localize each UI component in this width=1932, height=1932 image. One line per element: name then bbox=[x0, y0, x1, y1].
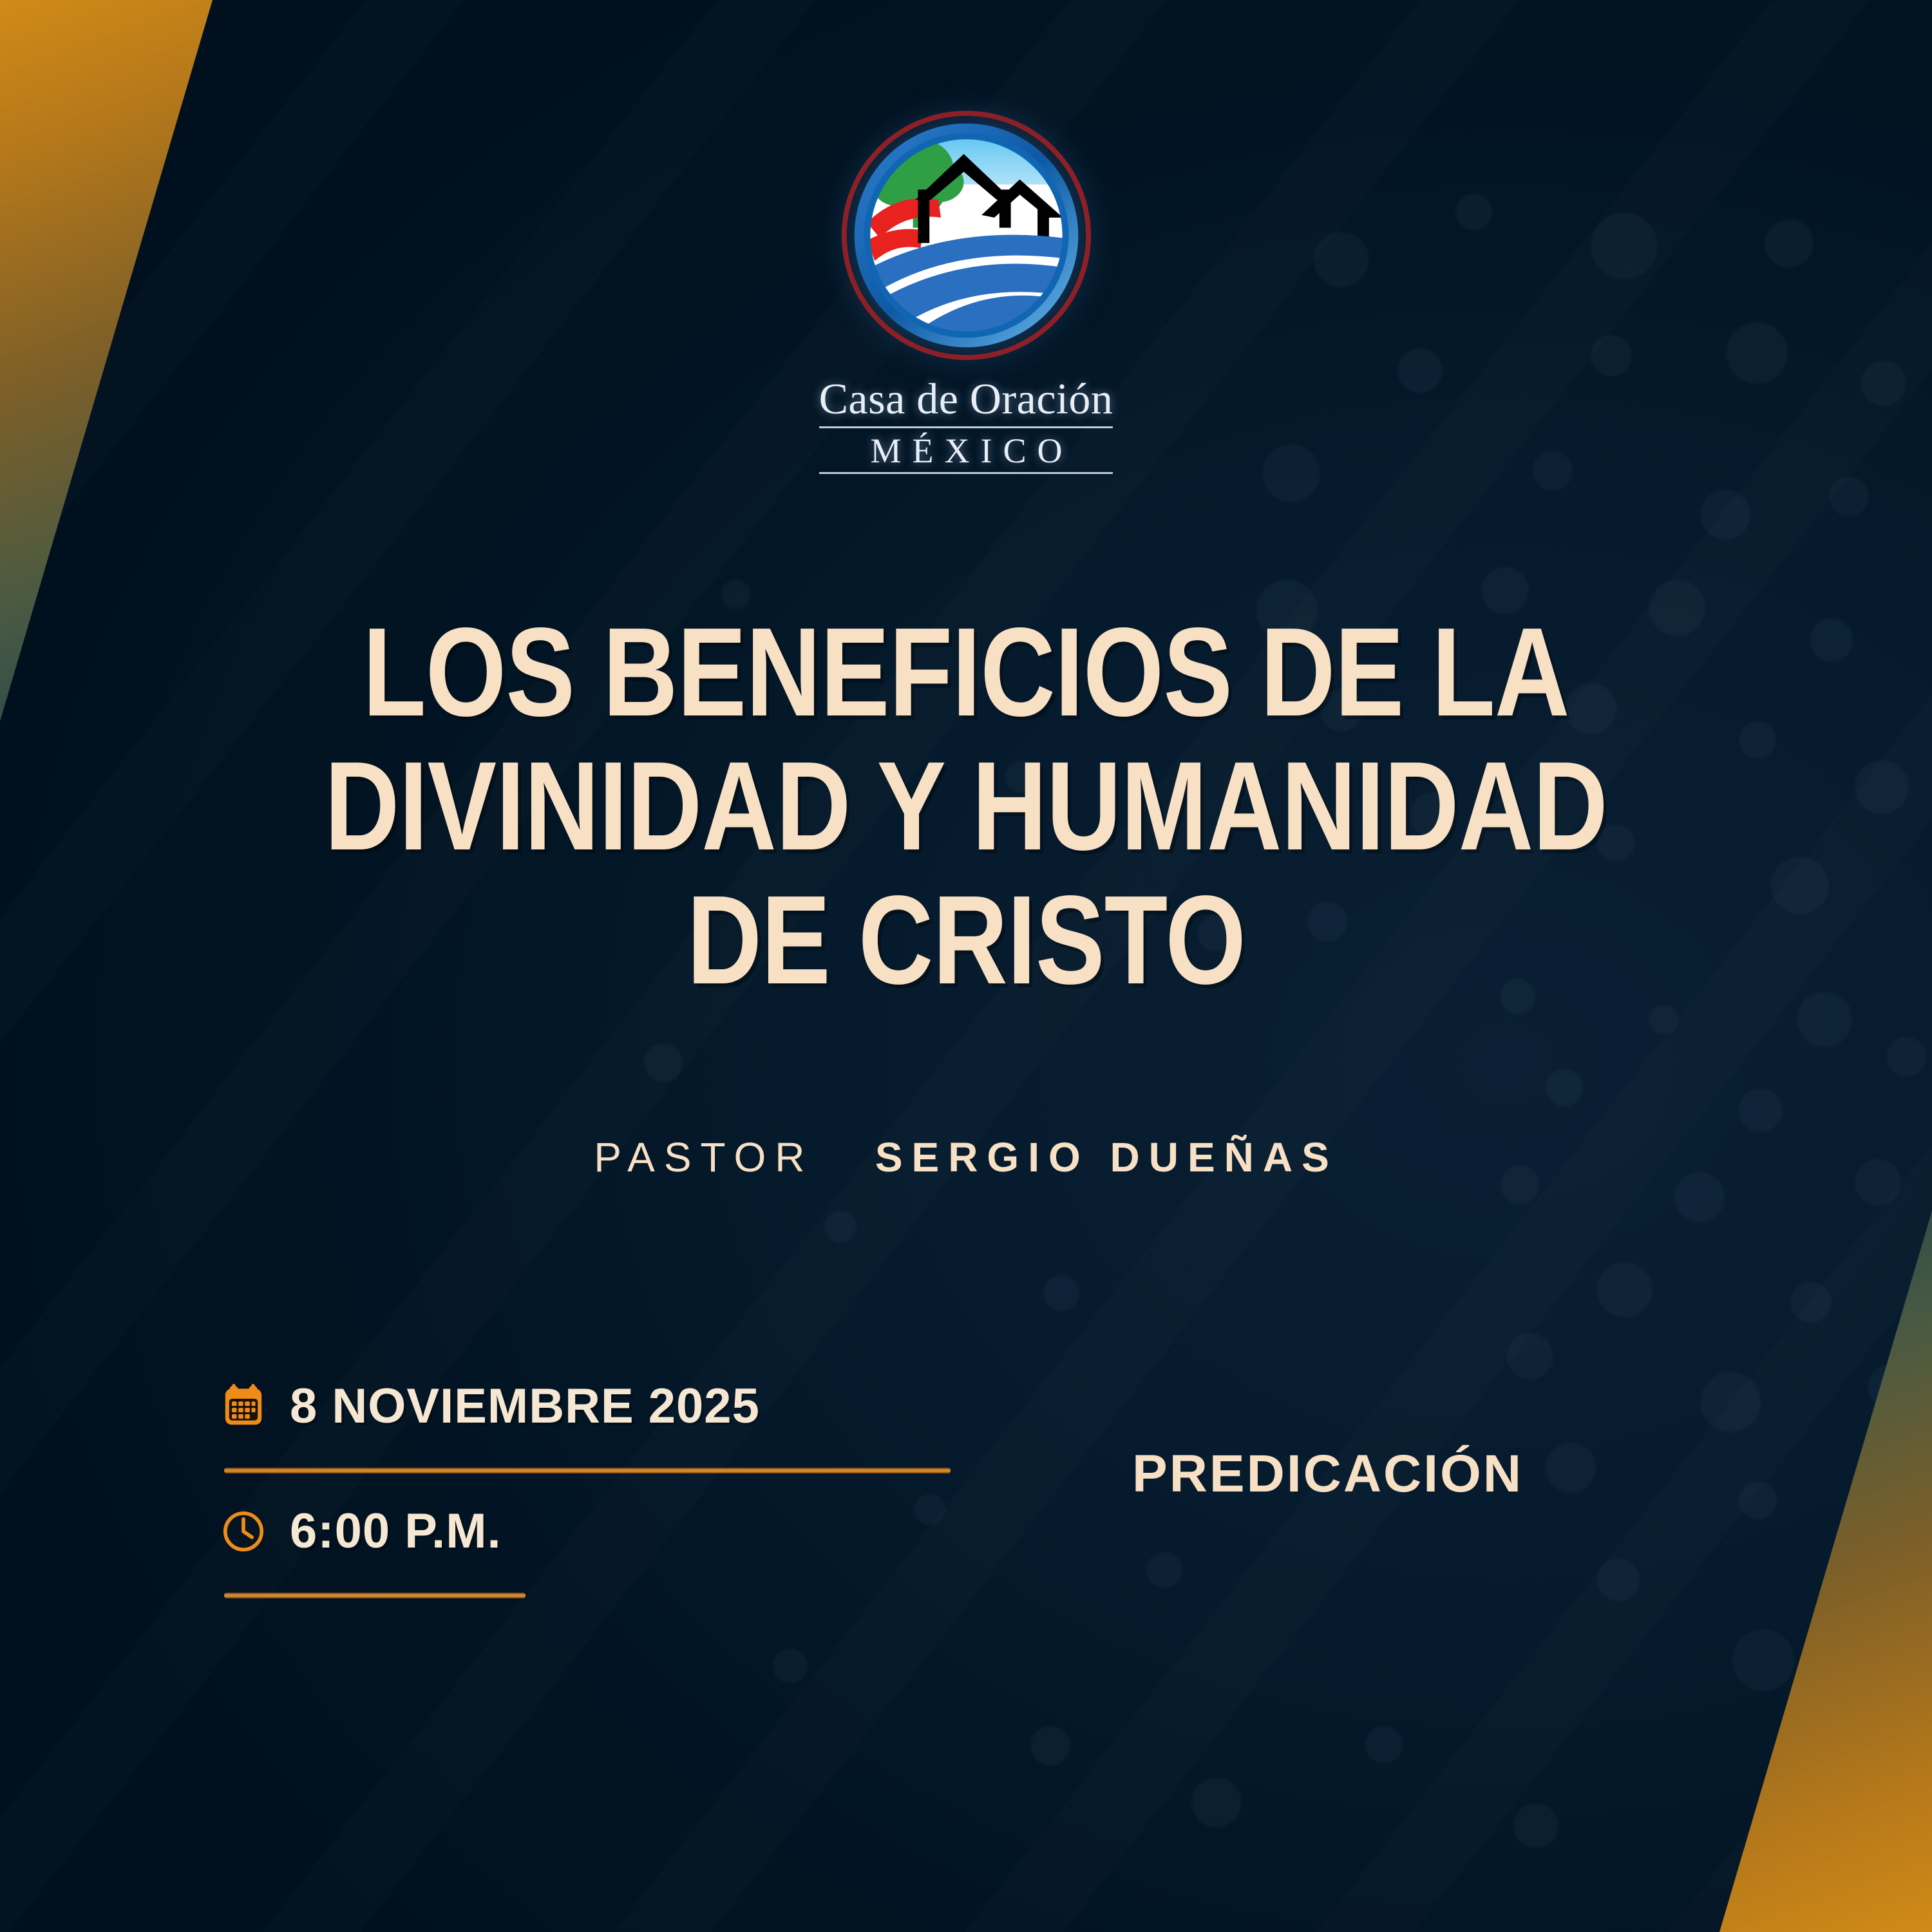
event-meta-block: 8 NOVIEMBRE 2025 6:00 P.M. bbox=[220, 1378, 954, 1598]
brand-name-line2: MÉXICO bbox=[819, 426, 1113, 474]
meta-spacer bbox=[220, 1473, 954, 1503]
title-line-1: LOS BENEFICIOS DE LA bbox=[363, 605, 1569, 739]
title-line-3: DE CRISTO bbox=[687, 873, 1245, 1007]
meta-divider-1 bbox=[224, 1468, 951, 1473]
event-time-text: 6:00 P.M. bbox=[290, 1503, 502, 1559]
sermon-title: LOS BENEFICIOS DE LA DIVINIDAD Y HUMANID… bbox=[104, 605, 1828, 1007]
poster-canvas: Casa de Oración MÉXICO LOS BENEFICIOS DE… bbox=[0, 0, 1932, 1932]
brand-name-line1: Casa de Oración bbox=[819, 377, 1113, 421]
speaker-role: PASTOR bbox=[594, 1134, 813, 1180]
speaker-line: PASTOR SERGIO DUEÑAS bbox=[0, 1133, 1932, 1181]
speaker-name: SERGIO DUEÑAS bbox=[875, 1134, 1338, 1180]
event-time-row: 6:00 P.M. bbox=[220, 1503, 954, 1559]
meta-divider-2 bbox=[224, 1593, 526, 1598]
title-line-2: DIVINIDAD Y HUMANIDAD bbox=[325, 739, 1607, 873]
brand-wordmark: Casa de Oración MÉXICO bbox=[819, 377, 1113, 474]
event-date-text: 8 NOVIEMBRE 2025 bbox=[290, 1378, 760, 1434]
casa-de-oracion-emblem-icon bbox=[839, 108, 1094, 363]
clock-icon bbox=[220, 1508, 267, 1555]
event-category-label: PREDICACIÓN bbox=[1132, 1444, 1523, 1504]
calendar-icon bbox=[220, 1383, 267, 1430]
corner-wedge-bottom-right bbox=[1520, 1211, 1932, 1932]
brand-logo-block: Casa de Oración MÉXICO bbox=[0, 108, 1932, 474]
event-date-row: 8 NOVIEMBRE 2025 bbox=[220, 1378, 954, 1434]
